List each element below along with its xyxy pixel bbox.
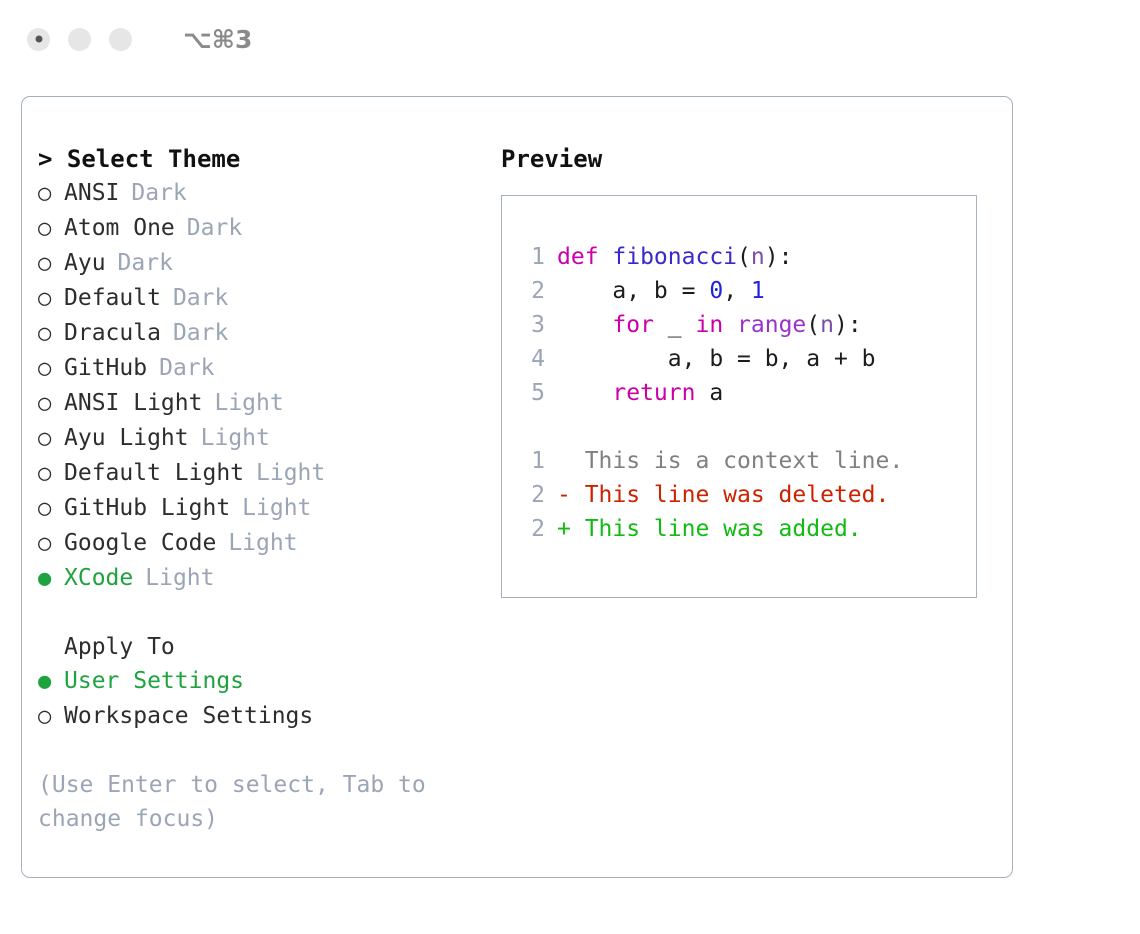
theme-option-label: Atom One	[64, 211, 175, 245]
radio-unselected-icon: ○	[38, 492, 64, 526]
radio-selected-icon: ●	[38, 665, 64, 699]
theme-option-ayu[interactable]: ○AyuDark	[38, 246, 468, 281]
line-number: 1	[521, 240, 545, 274]
theme-variant-badge: Dark	[131, 176, 186, 210]
token-add: + This line was added.	[557, 516, 862, 542]
theme-option-google-code[interactable]: ○Google CodeLight	[38, 526, 468, 561]
theme-selector-column: > Select Theme ○ANSIDark○Atom OneDark○Ay…	[38, 142, 468, 836]
token-fn: fibonacci	[612, 244, 737, 270]
radio-selected-icon: ●	[38, 562, 64, 596]
token-plain	[557, 380, 612, 406]
apply-to-option-label: Workspace Settings	[64, 699, 313, 733]
theme-option-label: Default	[64, 281, 161, 315]
radio-unselected-icon: ○	[38, 352, 64, 386]
theme-option-label: GitHub Light	[64, 491, 230, 525]
code-line: 3 for _ in range(n):	[521, 308, 976, 342]
token-call: range	[737, 312, 806, 338]
apply-to-header: Apply To	[38, 630, 468, 664]
diff-line: 2- This line was deleted.	[521, 478, 976, 512]
code-line-text: + This line was added.	[557, 512, 862, 546]
theme-option-label: Google Code	[64, 526, 216, 560]
radio-unselected-icon: ○	[38, 457, 64, 491]
code-line: 1def fibonacci(n):	[521, 240, 976, 274]
window-dot-icon-2[interactable]	[68, 28, 91, 51]
title-bar: ⌥⌘3	[0, 0, 1140, 78]
main-panel: > Select Theme ○ANSIDark○Atom OneDark○Ay…	[21, 96, 1013, 878]
theme-option-dracula[interactable]: ○DraculaDark	[38, 316, 468, 351]
apply-to-list[interactable]: ●User Settings○Workspace Settings	[38, 664, 468, 734]
token-ctx: This is a context line.	[557, 448, 903, 474]
token-param: n	[820, 312, 834, 338]
theme-option-label: GitHub	[64, 351, 147, 385]
code-line: 2 a, b = 0, 1	[521, 274, 976, 308]
theme-option-label: Ayu Light	[64, 421, 189, 455]
window-dot-active-icon[interactable]	[27, 28, 50, 51]
line-number: 5	[521, 376, 545, 410]
theme-list[interactable]: ○ANSIDark○Atom OneDark○AyuDark○DefaultDa…	[38, 176, 468, 596]
theme-option-default[interactable]: ○DefaultDark	[38, 281, 468, 316]
token-num: 0	[709, 278, 723, 304]
token-plain	[723, 312, 737, 338]
code-line-text: This is a context line.	[557, 444, 903, 478]
token-kw: def	[557, 244, 612, 270]
token-kw: for	[612, 312, 654, 338]
radio-unselected-icon: ○	[38, 700, 64, 734]
theme-variant-badge: Light	[256, 456, 325, 490]
theme-option-label: Ayu	[64, 246, 106, 280]
window-controls	[27, 28, 132, 51]
theme-option-default-light[interactable]: ○Default LightLight	[38, 456, 468, 491]
token-plain: ):	[765, 244, 793, 270]
apply-to-option-user-settings[interactable]: ●User Settings	[38, 664, 468, 699]
theme-option-ayu-light[interactable]: ○Ayu LightLight	[38, 421, 468, 456]
token-plain: ,	[723, 278, 751, 304]
theme-option-ansi-light[interactable]: ○ANSI LightLight	[38, 386, 468, 421]
line-number: 3	[521, 308, 545, 342]
token-plain	[557, 312, 612, 338]
theme-option-ansi[interactable]: ○ANSIDark	[38, 176, 468, 211]
theme-variant-badge: Dark	[118, 246, 173, 280]
select-theme-header: > Select Theme	[38, 142, 468, 176]
radio-unselected-icon: ○	[38, 212, 64, 246]
radio-unselected-icon: ○	[38, 317, 64, 351]
token-param: n	[751, 244, 765, 270]
theme-variant-badge: Dark	[159, 351, 214, 385]
token-plain: (	[806, 312, 820, 338]
theme-variant-badge: Dark	[187, 211, 242, 245]
diff-sample: 1 This is a context line.2- This line wa…	[521, 444, 976, 546]
radio-unselected-icon: ○	[38, 247, 64, 281]
theme-variant-badge: Light	[201, 421, 270, 455]
code-line-text: def fibonacci(n):	[557, 240, 792, 274]
apply-to-option-label: User Settings	[64, 664, 244, 698]
theme-variant-badge: Dark	[173, 281, 228, 315]
theme-option-github[interactable]: ○GitHubDark	[38, 351, 468, 386]
radio-unselected-icon: ○	[38, 387, 64, 421]
code-line-text: a, b = 0, 1	[557, 274, 765, 308]
code-spacer	[521, 410, 976, 444]
window-dot-icon-3[interactable]	[109, 28, 132, 51]
theme-variant-badge: Light	[242, 491, 311, 525]
preview-box: 1def fibonacci(n):2 a, b = 0, 13 for _ i…	[501, 195, 977, 598]
code-line-text: a, b = b, a + b	[557, 342, 876, 376]
apply-to-option-workspace-settings[interactable]: ○Workspace Settings	[38, 699, 468, 734]
radio-unselected-icon: ○	[38, 177, 64, 211]
token-plain: a	[695, 380, 723, 406]
code-sample: 1def fibonacci(n):2 a, b = 0, 13 for _ i…	[521, 240, 976, 410]
keyboard-shortcut-label: ⌥⌘3	[183, 25, 252, 54]
token-plain: ):	[834, 312, 862, 338]
theme-variant-badge: Dark	[173, 316, 228, 350]
token-kw: return	[612, 380, 695, 406]
radio-unselected-icon: ○	[38, 527, 64, 561]
token-kw: in	[695, 312, 723, 338]
preview-column: Preview 1def fibonacci(n):2 a, b = 0, 13…	[501, 142, 991, 598]
theme-variant-badge: Light	[145, 561, 214, 595]
token-del: - This line was deleted.	[557, 482, 889, 508]
code-line-text: - This line was deleted.	[557, 478, 889, 512]
line-number: 4	[521, 342, 545, 376]
line-number: 2	[521, 478, 545, 512]
theme-option-label: Dracula	[64, 316, 161, 350]
code-line: 4 a, b = b, a + b	[521, 342, 976, 376]
token-num: 1	[751, 278, 765, 304]
token-plain: _	[654, 312, 696, 338]
line-number: 1	[521, 444, 545, 478]
code-line: 5 return a	[521, 376, 976, 410]
token-plain: (	[737, 244, 751, 270]
keyboard-hint: (Use Enter to select, Tab to change focu…	[38, 768, 438, 836]
preview-header: Preview	[501, 142, 991, 176]
theme-variant-badge: Light	[228, 526, 297, 560]
app-window: ⌥⌘3 > Select Theme ○ANSIDark○Atom OneDar…	[0, 0, 1140, 934]
theme-option-atom-one[interactable]: ○Atom OneDark	[38, 211, 468, 246]
code-line-text: return a	[557, 376, 723, 410]
theme-option-xcode[interactable]: ●XCodeLight	[38, 561, 468, 596]
theme-option-label: XCode	[64, 561, 133, 595]
theme-option-label: Default Light	[64, 456, 244, 490]
line-number: 2	[521, 274, 545, 308]
diff-line: 1 This is a context line.	[521, 444, 976, 478]
diff-line: 2+ This line was added.	[521, 512, 976, 546]
line-number: 2	[521, 512, 545, 546]
theme-variant-badge: Light	[214, 386, 283, 420]
token-plain: a, b =	[557, 278, 709, 304]
token-plain: a, b = b, a + b	[557, 346, 876, 372]
code-line-text: for _ in range(n):	[557, 308, 862, 342]
theme-option-label: ANSI	[64, 176, 119, 210]
radio-unselected-icon: ○	[38, 282, 64, 316]
theme-option-label: ANSI Light	[64, 386, 202, 420]
radio-unselected-icon: ○	[38, 422, 64, 456]
theme-option-github-light[interactable]: ○GitHub LightLight	[38, 491, 468, 526]
